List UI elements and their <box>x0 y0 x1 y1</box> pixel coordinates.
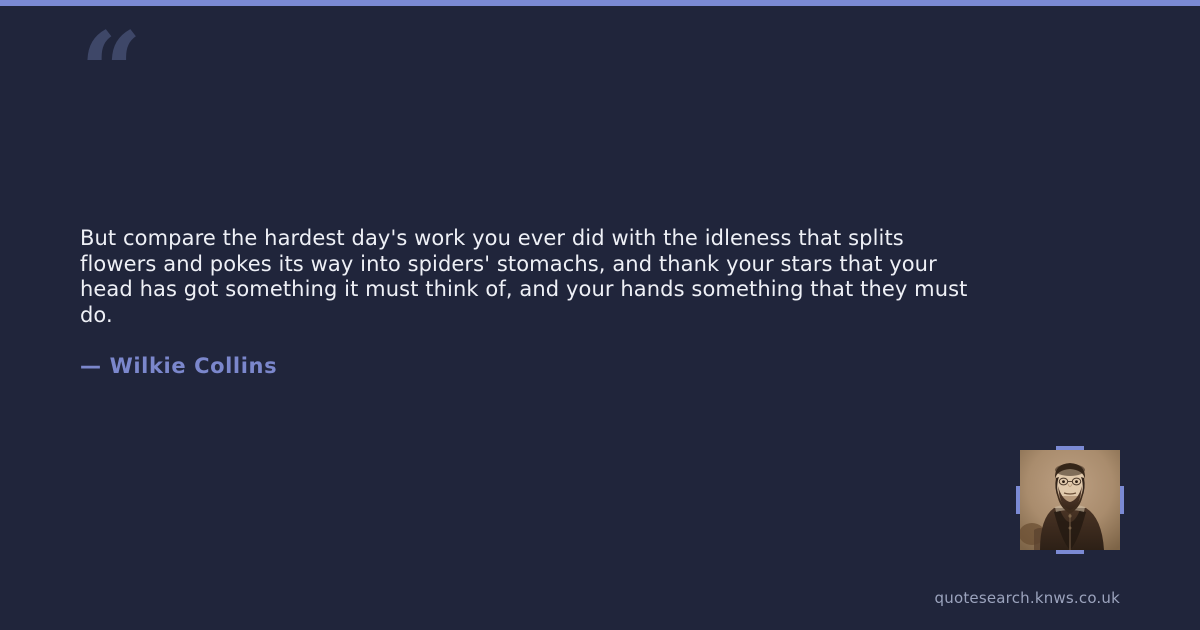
author-name: Wilkie Collins <box>110 354 278 378</box>
author-attribution: —Wilkie Collins <box>80 354 277 378</box>
author-portrait-container <box>1020 450 1120 550</box>
quote-card: “ But compare the hardest day's work you… <box>0 0 1200 630</box>
source-url: quotesearch.knws.co.uk <box>935 589 1120 607</box>
portrait-tick-bottom <box>1056 550 1084 554</box>
portrait-tick-right <box>1120 486 1124 514</box>
portrait-tick-left <box>1016 486 1020 514</box>
portrait-tick-top <box>1056 446 1084 450</box>
top-accent-bar <box>0 0 1200 6</box>
author-dash: — <box>80 354 102 378</box>
quote-text: But compare the hardest day's work you e… <box>80 226 980 329</box>
opening-quote-icon: “ <box>80 18 140 126</box>
author-portrait-image <box>1020 450 1120 550</box>
